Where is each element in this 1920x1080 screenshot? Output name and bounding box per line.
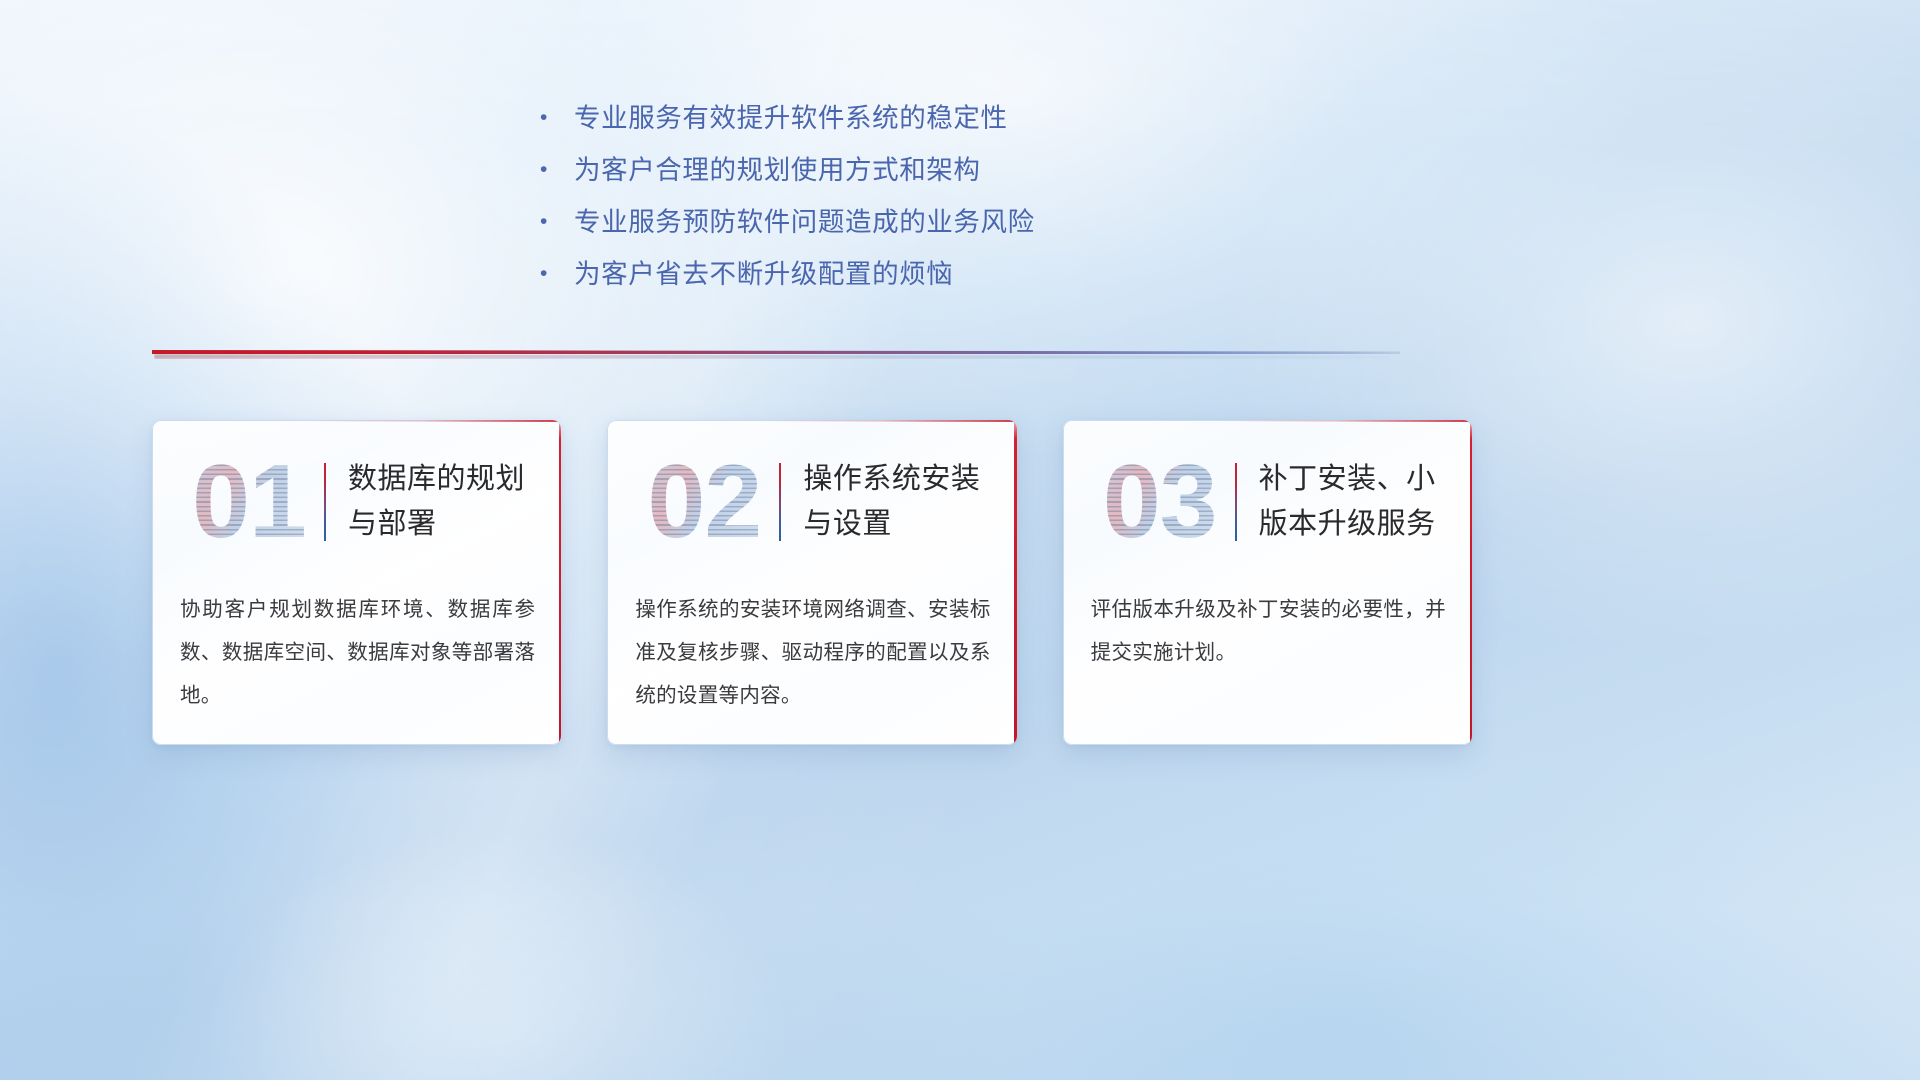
bullet-text-3: 专业服务预防软件问题造成的业务风险 [574,196,1035,248]
card-number-01: 01 [178,446,320,558]
service-card-02[interactable]: 02 操作系统安装 与设置 操作系统的安装环境网络调查、安装标准及复核步骤、驱动… [607,420,1016,745]
card-accent-top-stripe [763,420,1017,422]
card-number-02: 02 [633,446,775,558]
card-title-01: 数据库的规划 与部署 [348,457,561,547]
slide-canvas: • 专业服务有效提升软件系统的稳定性 • 为客户合理的规划使用方式和架构 • 专… [0,0,1920,1080]
card-title-divider [324,463,326,541]
bullet-text-4: 为客户省去不断升级配置的烦恼 [574,248,953,300]
service-card-01[interactable]: 01 数据库的规划 与部署 协助客户规划数据库环境、数据库参数、数据库空间、数据… [152,420,561,745]
section-divider-bar [152,350,1400,354]
card-title-02: 操作系统安装 与设置 [803,457,1016,547]
section-divider-shadow [154,354,1390,359]
bullet-item-1: • 专业服务有效提升软件系统的稳定性 [540,92,1440,144]
card-accent-top-stripe [1218,420,1472,422]
bullet-dot-icon: • [540,248,574,300]
bullet-text-2: 为客户合理的规划使用方式和架构 [574,144,981,196]
card-body-02: 操作系统的安装环境网络调查、安装标准及复核步骤、驱动程序的配置以及系统的设置等内… [635,588,990,717]
card-title-divider [779,463,781,541]
card-title-line-1: 数据库的规划 [348,457,543,502]
card-title-03: 补丁安装、小 版本升级服务 [1259,457,1472,547]
card-header: 03 补丁安装、小 版本升级服务 [1063,442,1472,562]
card-accent-top-stripe [308,420,562,422]
card-title-line-2: 与设置 [803,502,998,547]
bullet-dot-icon: • [540,92,574,144]
card-title-line-1: 操作系统安装 [803,457,998,502]
card-body-01: 协助客户规划数据库环境、数据库参数、数据库空间、数据库对象等部署落地。 [180,588,535,717]
bullet-item-3: • 专业服务预防软件问题造成的业务风险 [540,196,1440,248]
benefits-bullet-list: • 专业服务有效提升软件系统的稳定性 • 为客户合理的规划使用方式和架构 • 专… [540,92,1440,300]
card-title-divider [1235,463,1237,541]
bullet-dot-icon: • [540,196,574,248]
service-card-03[interactable]: 03 补丁安装、小 版本升级服务 评估版本升级及补丁安装的必要性，并提交实施计划… [1063,420,1472,745]
bullet-item-2: • 为客户合理的规划使用方式和架构 [540,144,1440,196]
card-title-line-2: 版本升级服务 [1259,502,1454,547]
bullet-text-1: 专业服务有效提升软件系统的稳定性 [574,92,1008,144]
service-card-row: 01 数据库的规划 与部署 协助客户规划数据库环境、数据库参数、数据库空间、数据… [152,420,1472,745]
card-header: 01 数据库的规划 与部署 [152,442,561,562]
bullet-dot-icon: • [540,144,574,196]
card-header: 02 操作系统安装 与设置 [607,442,1016,562]
bullet-item-4: • 为客户省去不断升级配置的烦恼 [540,248,1440,300]
section-divider [152,344,1400,364]
card-title-line-1: 补丁安装、小 [1259,457,1454,502]
card-body-03: 评估版本升级及补丁安装的必要性，并提交实施计划。 [1091,588,1446,674]
card-title-line-2: 与部署 [348,502,543,547]
card-number-03: 03 [1089,446,1231,558]
